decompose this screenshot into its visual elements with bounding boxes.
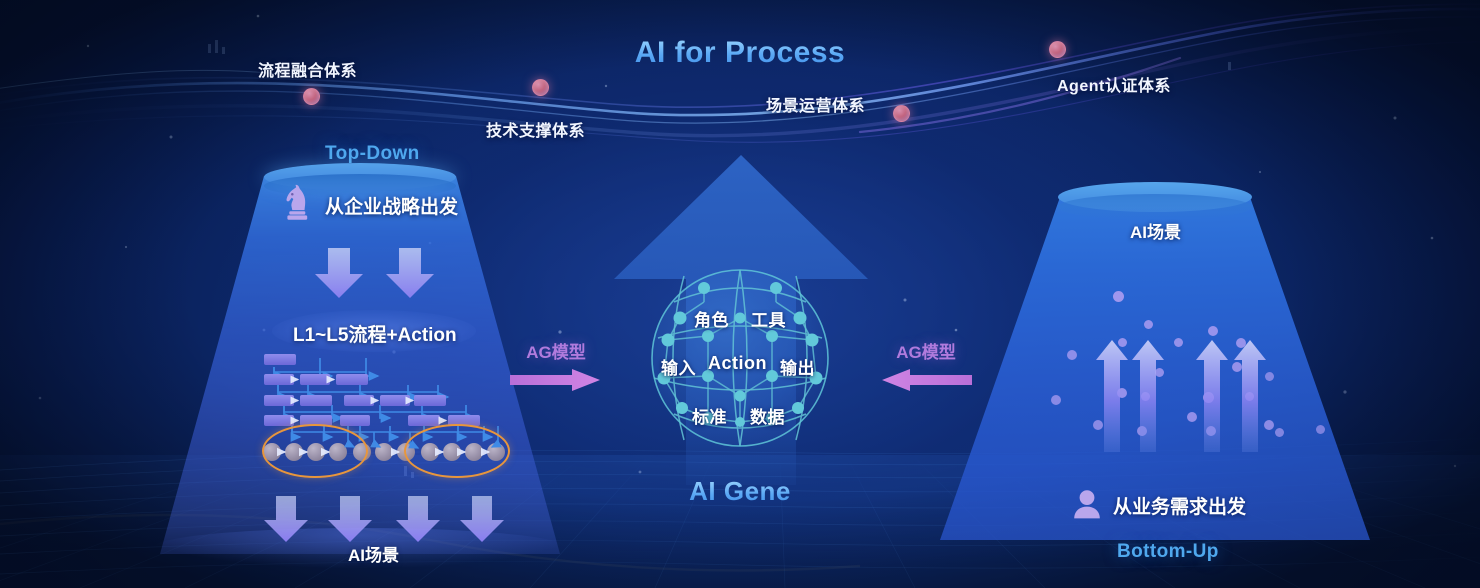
page-title: AI for Process xyxy=(0,36,1480,70)
right-funnel-body xyxy=(940,196,1370,540)
wave-node-1 xyxy=(303,88,320,105)
connector-left-label: AG模型 xyxy=(510,338,602,363)
wave-label-scenario-ops: 场景运营体系 xyxy=(766,92,865,116)
sphere-label-tool: 工具 xyxy=(751,306,786,331)
person-icon xyxy=(1073,489,1101,519)
sphere-label-input: 输入 xyxy=(661,354,696,379)
wave-label-agent-cert: Agent认证体系 xyxy=(1057,72,1171,96)
wave-label-tech-support: 技术支撑体系 xyxy=(486,117,585,141)
right-funnel xyxy=(940,196,1370,540)
right-funnel-rim xyxy=(1058,182,1252,212)
wave-ribbons xyxy=(0,4,1480,142)
chess-knight-icon xyxy=(281,183,313,223)
highlight-ellipse-1 xyxy=(262,424,368,478)
sphere-label-role: 角色 xyxy=(694,306,729,331)
left-funnel-direction-label: Top-Down xyxy=(325,143,420,165)
left-funnel-level-label: L1~L5流程+Action xyxy=(293,320,457,347)
sphere-label-output: 输出 xyxy=(780,354,815,379)
left-funnel-outcome-label: AI场景 xyxy=(348,541,399,566)
wave-node-2 xyxy=(532,79,549,96)
sphere-label-standard: 标准 xyxy=(692,403,727,428)
arrow-right-icon xyxy=(510,369,602,391)
highlight-ellipse-2 xyxy=(404,424,510,478)
sphere-label-action: Action xyxy=(708,353,767,374)
wave-node-3 xyxy=(893,105,910,122)
infographic-canvas: 流程融合体系 技术支撑体系 场景运营体系 Agent认证体系 AI for Pr… xyxy=(0,0,1480,588)
right-funnel-top-label: AI场景 xyxy=(1130,218,1181,243)
sphere-label-data: 数据 xyxy=(750,403,785,428)
right-funnel-source-label: 从业务需求出发 xyxy=(1113,492,1246,519)
left-funnel-source-label: 从企业战略出发 xyxy=(325,192,458,219)
connector-left: AG模型 xyxy=(510,338,602,396)
right-funnel-direction-label: Bottom-Up xyxy=(1117,541,1219,563)
